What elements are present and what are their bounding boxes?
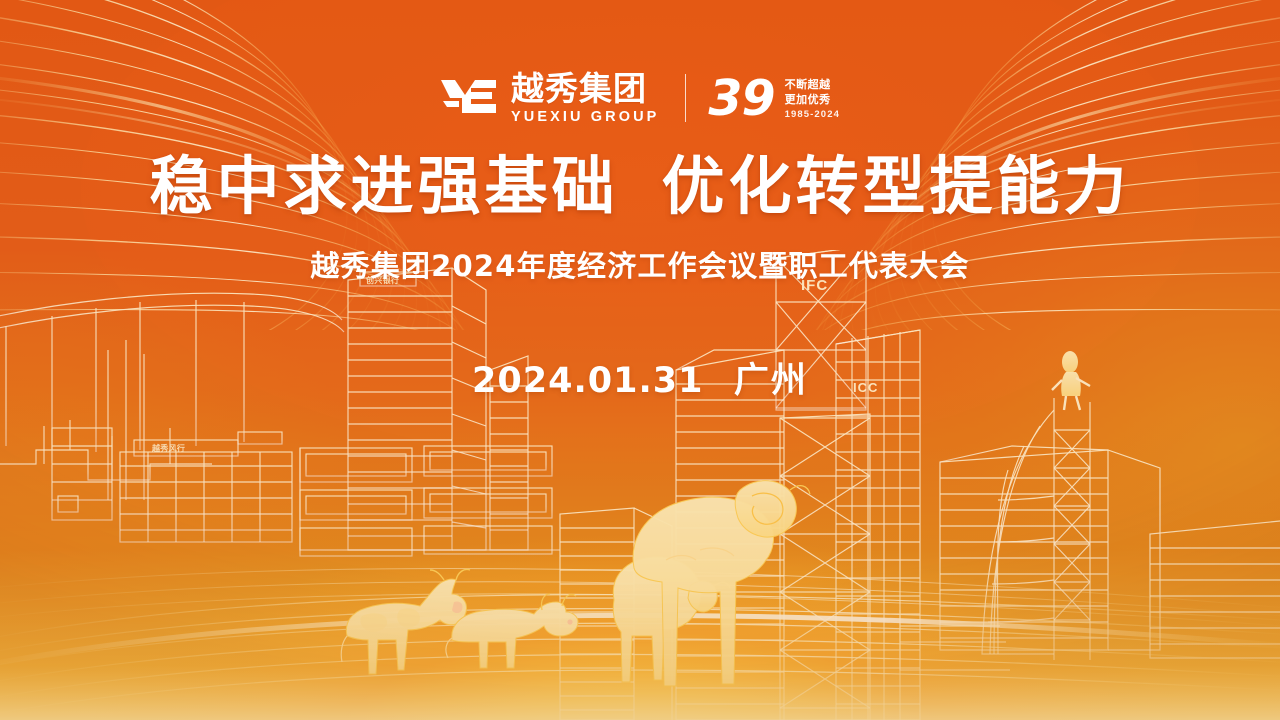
main-title-part2: 优化转型提能力 [661,152,1130,223]
anniversary-slogan-line1: 不断超越 [785,79,831,91]
main-title-block: 稳中求进强基础 优化转型提能力 [0,152,1280,223]
event-dateline: 2024.01.31 广州 [0,352,1280,403]
yuexiu-ye-monogram-icon [440,75,498,121]
anniversary-badge: 39 不断超越 更加优秀 1985-2024 [708,74,840,123]
anniversary-slogan: 不断超越 更加优秀 1985-2024 [785,77,840,120]
anniversary-slogan-line2: 更加优秀 [785,94,831,106]
event-date: 2024.01.31 [472,361,703,401]
brand-wordmark: 越秀集团 YUEXIU GROUP [511,72,659,125]
conference-subtitle: 越秀集团2024年度经济工作会议暨职工代表大会 [0,243,1280,285]
logo-divider [685,74,686,122]
main-title-part1: 稳中求进强基础 [150,152,619,223]
company-name-cn: 越秀集团 [511,72,647,105]
anniversary-years: 1985-2024 [785,110,840,120]
conference-banner: IFC ICC 创兴银行 越秀风行 越秀集团 YUEXIU GROUP 39 不… [0,0,1280,720]
event-location: 广州 [734,361,808,401]
anniversary-number: 39 [708,74,774,123]
brand-logo-row: 越秀集团 YUEXIU GROUP 39 不断超越 更加优秀 1985-2024 [0,72,1280,125]
company-name-en: YUEXIU GROUP [511,110,659,125]
